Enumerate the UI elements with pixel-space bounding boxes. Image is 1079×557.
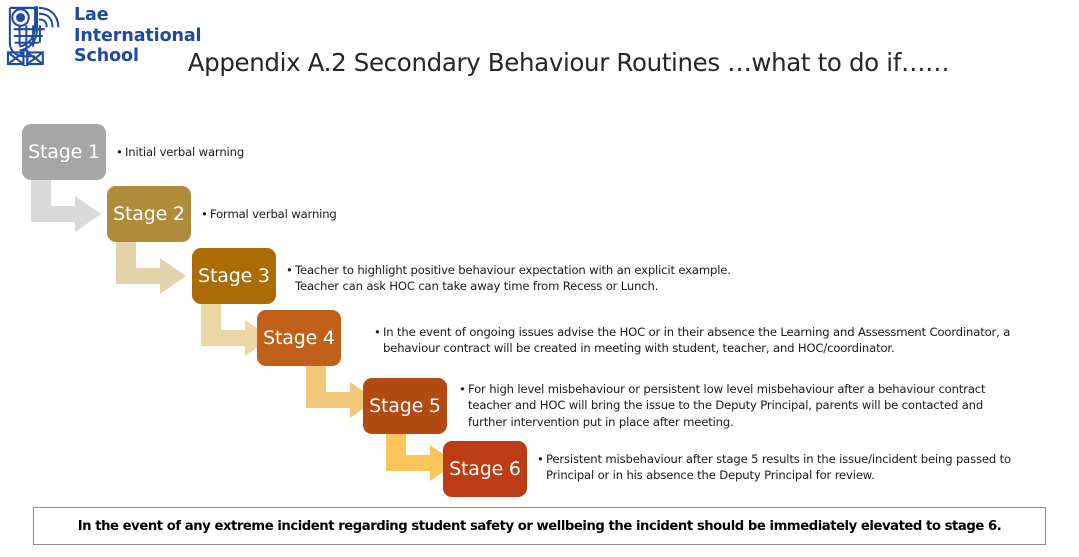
bullet-glyph-3: •	[286, 262, 293, 278]
stage-description-3-line-1: Teacher to highlight positive behaviour …	[286, 262, 826, 278]
stage-description-5: • For high level misbehaviour or persist…	[459, 381, 1045, 430]
bullet-glyph-5: •	[459, 381, 466, 397]
bullet-glyph-6: •	[537, 451, 544, 467]
behaviour-stages-cascade: Stage 1 • Initial verbal warning Stage 2…	[0, 0, 1079, 505]
stage-description-5-line-2: teacher and HOC will bring the issue to …	[459, 397, 1045, 413]
extreme-incident-banner-text: In the event of any extreme incident reg…	[78, 519, 1002, 534]
stage-box-5[interactable]: Stage 5	[363, 378, 447, 434]
stage-description-6-line-1: Persistent misbehaviour after stage 5 re…	[537, 451, 1045, 467]
bullet-glyph-1: •	[116, 144, 123, 160]
stage-description-1: • Initial verbal warning	[116, 144, 416, 160]
stage-box-3[interactable]: Stage 3	[192, 248, 276, 304]
stage-description-1-line-1: Initial verbal warning	[116, 144, 416, 160]
stage-description-6: • Persistent misbehaviour after stage 5 …	[537, 451, 1045, 484]
stage-description-3-line-2: Teacher can ask HOC can take away time f…	[286, 278, 826, 294]
stage-box-5-label: Stage 5	[369, 395, 441, 417]
stage-description-2-line-1: Formal verbal warning	[201, 206, 521, 222]
stage-description-4: • In the event of ongoing issues advise …	[374, 324, 1046, 357]
stage-description-2: • Formal verbal warning	[201, 206, 521, 222]
extreme-incident-banner: In the event of any extreme incident reg…	[33, 507, 1046, 545]
stage-description-5-line-3: further intervention put in place after …	[459, 414, 1045, 430]
stage-box-1-label: Stage 1	[28, 141, 100, 163]
stage-box-3-label: Stage 3	[198, 265, 270, 287]
stage-description-5-line-1: For high level misbehaviour or persisten…	[459, 381, 1045, 397]
stage-box-4[interactable]: Stage 4	[257, 310, 341, 366]
stage-box-2-label: Stage 2	[113, 203, 185, 225]
stage-box-2[interactable]: Stage 2	[107, 186, 191, 242]
stage-description-3: • Teacher to highlight positive behaviou…	[286, 262, 826, 295]
bullet-glyph-4: •	[374, 324, 381, 340]
stage-description-6-line-2: Principal or in his absence the Deputy P…	[537, 467, 1045, 483]
stage-description-4-line-2: behaviour contract will be created in me…	[374, 340, 1046, 356]
stage-box-6[interactable]: Stage 6	[443, 441, 527, 497]
stage-box-1[interactable]: Stage 1	[22, 124, 106, 180]
stage-box-6-label: Stage 6	[449, 458, 521, 480]
stage-description-4-line-1: In the event of ongoing issues advise th…	[374, 324, 1046, 340]
bullet-glyph-2: •	[201, 206, 208, 222]
stage-box-4-label: Stage 4	[263, 327, 335, 349]
